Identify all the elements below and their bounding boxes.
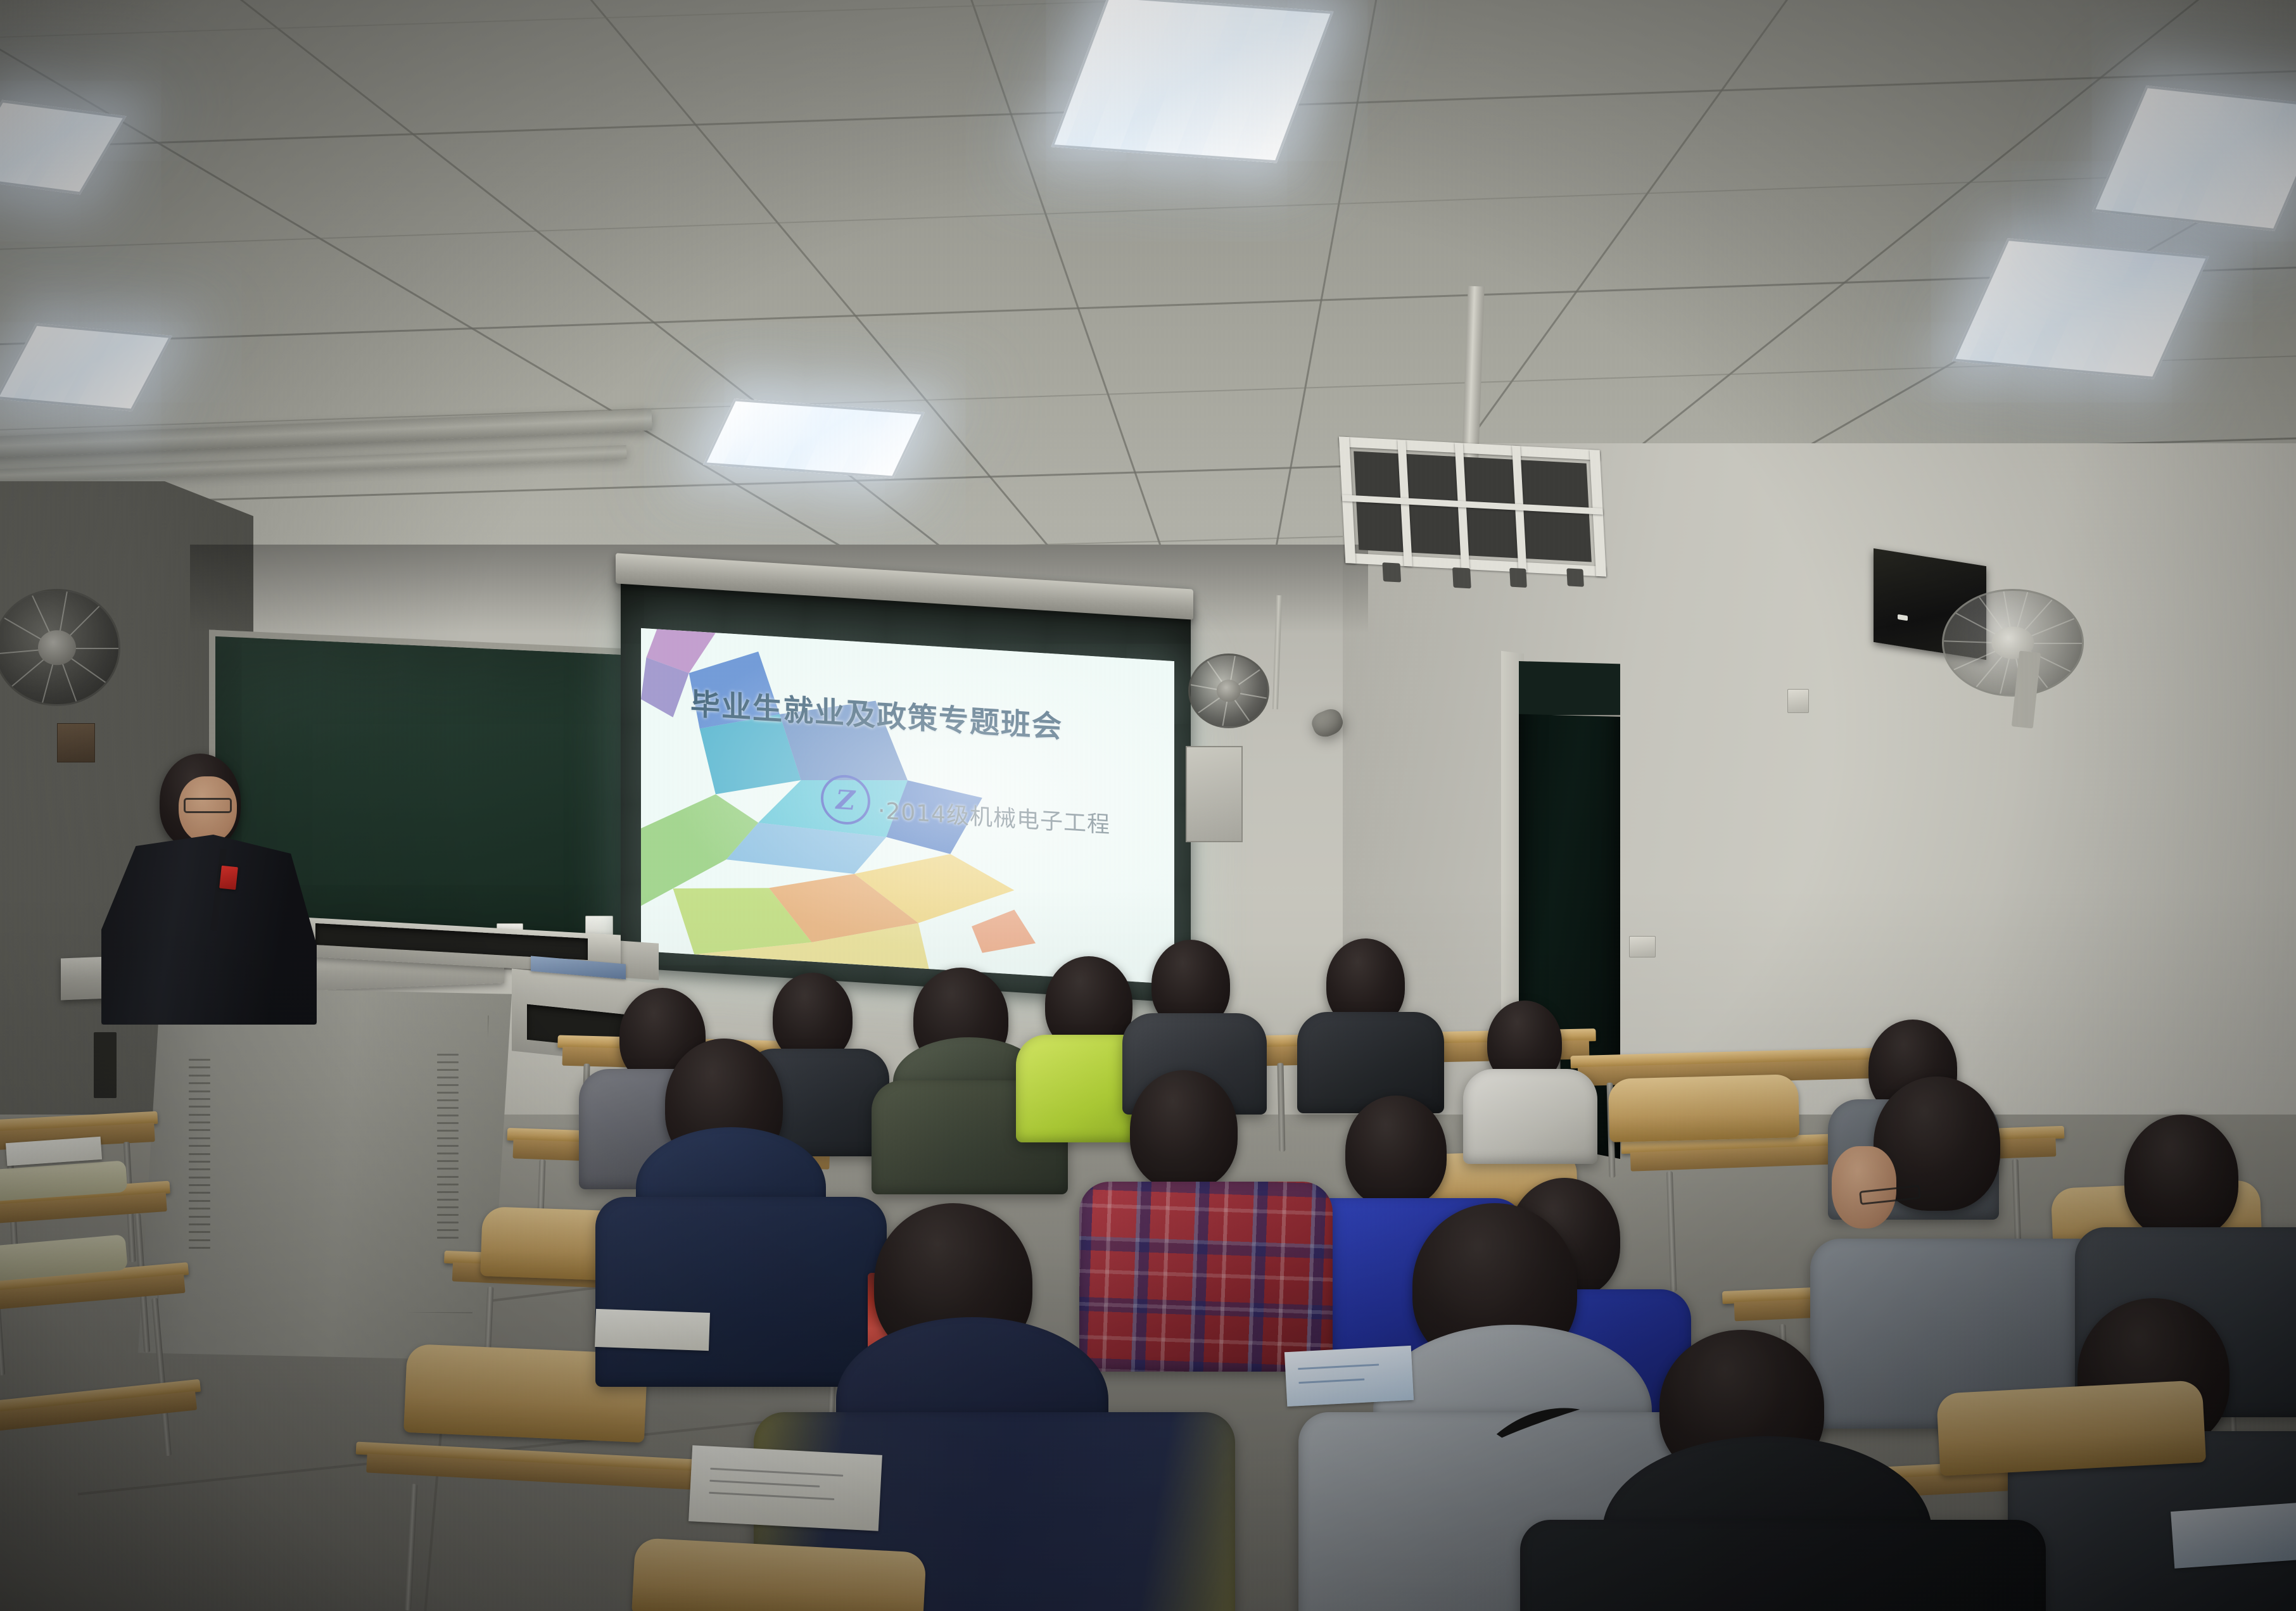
student-back-right-dark bbox=[1305, 938, 1438, 1097]
door-transom bbox=[1519, 661, 1620, 717]
fan-near-screen[interactable] bbox=[1188, 654, 1269, 728]
wall-electrical-panel bbox=[1186, 746, 1243, 842]
light-switch-right[interactable] bbox=[1629, 936, 1656, 957]
student-hand-on-head bbox=[1832, 1146, 1896, 1229]
projected-slide: 毕业生就业及政策专题班会 Z ·2014级机械电子工程 bbox=[641, 628, 1174, 984]
projector-security-cage[interactable] bbox=[1339, 436, 1606, 576]
blue-booklet-right[interactable] bbox=[1284, 1346, 1414, 1406]
notebook-right-edge[interactable] bbox=[2171, 1503, 2296, 1569]
presenter-jacket bbox=[101, 835, 317, 1025]
fan-right-wall[interactable] bbox=[1942, 589, 2084, 697]
podium-vent-right bbox=[437, 1054, 459, 1239]
handout-paper-left[interactable] bbox=[595, 1309, 710, 1351]
presenter-glasses bbox=[184, 798, 232, 813]
light-panel-mid-center bbox=[703, 398, 925, 478]
presenter-at-podium bbox=[120, 754, 329, 1020]
presenter-badge bbox=[219, 866, 238, 890]
chair-right-3[interactable] bbox=[1936, 1380, 2206, 1476]
wall-junction-box-left bbox=[57, 723, 95, 762]
handout-paper-front[interactable] bbox=[688, 1445, 882, 1531]
podium-vent-left bbox=[189, 1059, 210, 1249]
classroom-photo-scene: 毕业生就业及政策专题班会 Z ·2014级机械电子工程 bbox=[0, 0, 2296, 1611]
fan-left-wall[interactable] bbox=[0, 589, 120, 706]
podium-side-slot bbox=[94, 1032, 117, 1098]
light-switch-upper-right[interactable] bbox=[1787, 689, 1809, 713]
chair-right-1[interactable] bbox=[1608, 1074, 1800, 1142]
